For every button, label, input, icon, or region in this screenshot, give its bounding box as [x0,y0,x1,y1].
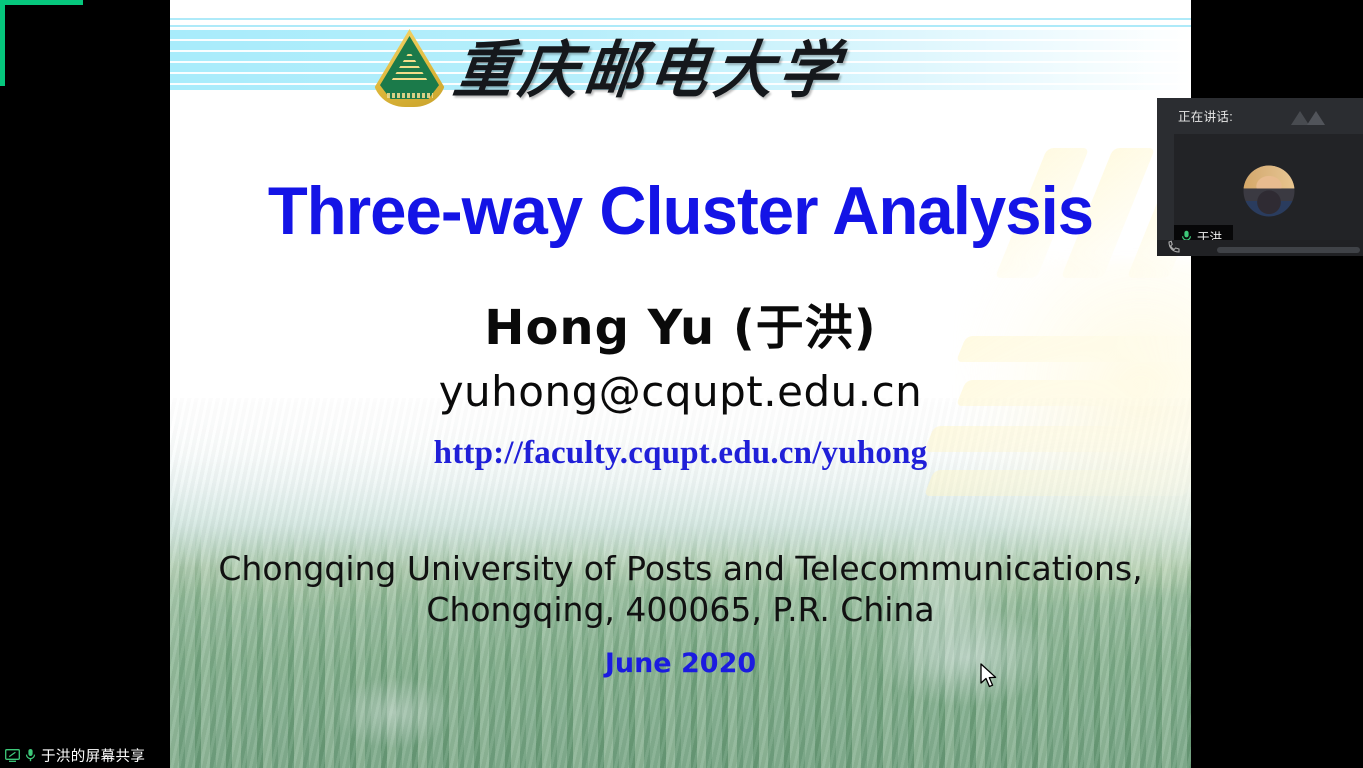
panel-scrollbar[interactable] [1217,247,1360,253]
mouse-cursor [979,663,999,689]
slide-title: Three-way Cluster Analysis [190,172,1170,250]
slide-homepage-url: http://faculty.cqupt.edu.cn/yuhong [170,435,1191,472]
participant-video-panel[interactable]: 正在讲话: 于洪 [1157,98,1363,256]
affiliation-line-2: Chongqing, 400065, P.R. China [170,589,1191,630]
participant-video-tile[interactable]: 于洪 [1174,134,1363,248]
meeting-screen-share-view: 腾讯会议 重庆邮电大学 Thr [0,0,1363,768]
video-panel-footer [1157,240,1363,256]
meeting-brand-logo-icon [1287,106,1339,125]
participant-avatar [1243,166,1294,217]
screen-share-owner-label: 于洪的屏幕共享 [41,745,145,766]
university-crest-icon [373,29,446,107]
slide-date: June 2020 [170,648,1191,679]
phone-icon[interactable] [1167,240,1182,254]
screen-share-icon [5,749,20,762]
slide-affiliation: Chongqing University of Posts and Teleco… [170,548,1191,631]
active-speaker-label: 正在讲话: [1178,106,1233,125]
slide-author: Hong Yu (于洪) [170,288,1191,358]
screen-share-border-top [0,0,83,5]
slide-email: yuhong@cqupt.edu.cn [170,367,1191,416]
mic-status-icon [25,748,36,762]
university-name-calligraphy: 重庆邮电大学 [450,20,851,109]
screen-share-status-bar: 于洪的屏幕共享 [0,742,156,768]
shared-slide: 重庆邮电大学 Three-way Cluster Analysis Hong Y… [170,0,1191,768]
screen-share-border-left [0,0,5,86]
affiliation-line-1: Chongqing University of Posts and Teleco… [170,548,1191,589]
